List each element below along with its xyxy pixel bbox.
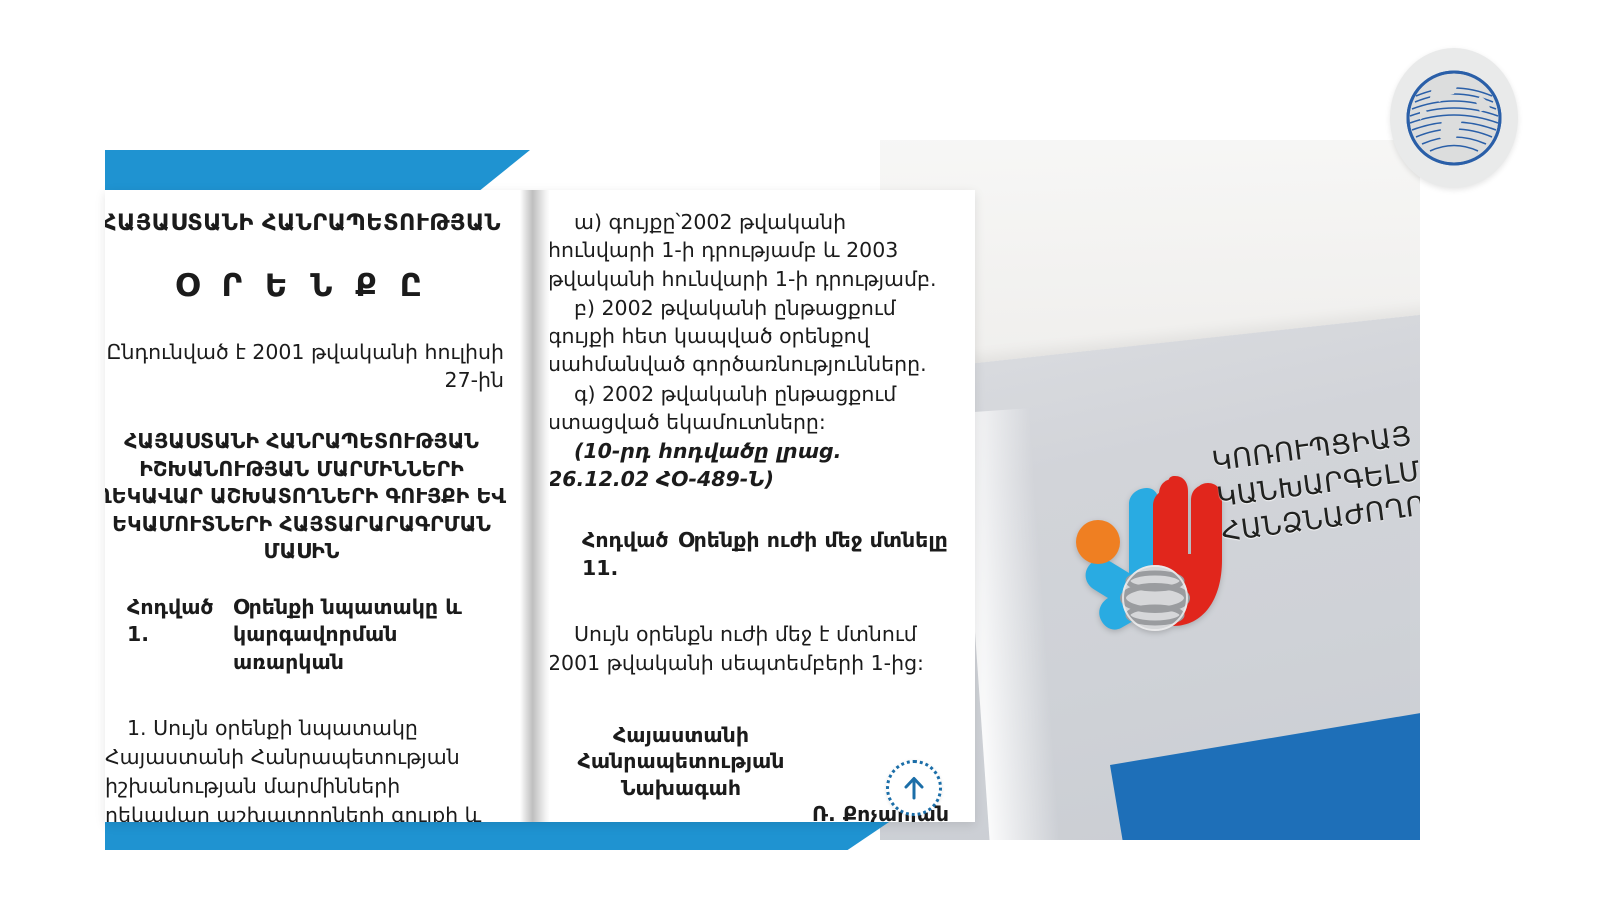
ribbon-bottom: [105, 818, 895, 850]
amendment-note: (10-րդ հոդվածը լրաց. 26.12.02 ՀՕ-489-Ն): [548, 438, 949, 493]
clause-a: ա) գույքը՝2002 թվականի հունվարի 1-ի դրու…: [548, 208, 949, 293]
signature-block: Հայաստանի Հանրապետության Նախագահ Ռ. Քոչա…: [548, 722, 949, 823]
doc-title-law: Օ Ր Ե Ն Ք Ը: [105, 265, 506, 308]
globe-icon: [1390, 48, 1518, 188]
signature-office: Հայաստանի Հանրապետության Նախագահ: [556, 722, 806, 802]
document-page-right: ա) գույքը՝2002 թվականի հունվարի 1-ի դրու…: [520, 190, 975, 822]
article-1-body: 1. Սույն օրենքի նպատակը Հայաստանի Հանրապ…: [105, 714, 506, 822]
arrow-up-icon: [900, 774, 928, 802]
scroll-to-top-button[interactable]: [886, 760, 942, 816]
article-1-title: Օրենքի նպատակը և կարգավորման առարկան: [233, 594, 506, 676]
article-11-number: Հոդված 11.: [548, 527, 678, 582]
article-1-heading: Հոդված 1. Օրենքի նպատակը և կարգավորման ա…: [105, 594, 506, 676]
clause-c: գ) 2002 թվականի ընթացքում ստացված եկամու…: [548, 380, 949, 437]
slide-canvas: ԿՈՌՈՒՊՑԻԱՅ ԿԱՆԽԱՐԳԵԼՄԱ ՀԱՆՁՆԱԺՈՂՈ: [0, 0, 1600, 900]
document-page-left: ՀԱՅԱՍՏԱՆԻ ՀԱՆՐԱՊԵՏՈՒԹՅԱՆ Օ Ր Ե Ն Ք Ը Ընդ…: [105, 190, 520, 822]
article-11-heading: Հոդված 11. Օրենքի ուժի մեջ մտնելը: [548, 527, 949, 582]
article-11-title: Օրենքի ուժի մեջ մտնելը: [678, 527, 949, 582]
doc-title-republic: ՀԱՅԱՍՏԱՆԻ ՀԱՆՐԱՊԵՏՈՒԹՅԱՆ: [105, 208, 506, 239]
doc-subject-heading: ՀԱՅԱՍՏԱՆԻ ՀԱՆՐԱՊԵՏՈՒԹՅԱՆ ԻՇԽԱՆՈՒԹՅԱՆ ՄԱՐ…: [105, 428, 506, 565]
effective-date-text: Սույն օրենքն ուժի մեջ է մտնում 2001 թվակ…: [548, 620, 949, 677]
article-1-number: Հոդված 1.: [105, 594, 233, 676]
clause-b: բ) 2002 թվականի ընթացքում գույքի հետ կապ…: [548, 294, 949, 379]
doc-adopted-date: Ընդունված է 2001 թվականի հուլիսի 27-ին: [105, 338, 506, 395]
document-spread: ՀԱՅԱՍՏԱՆԻ ՀԱՆՐԱՊԵՏՈՒԹՅԱՆ Օ Ր Ե Ն Ք Ը Ընդ…: [105, 190, 975, 822]
book-spine-shadow: [520, 190, 550, 822]
